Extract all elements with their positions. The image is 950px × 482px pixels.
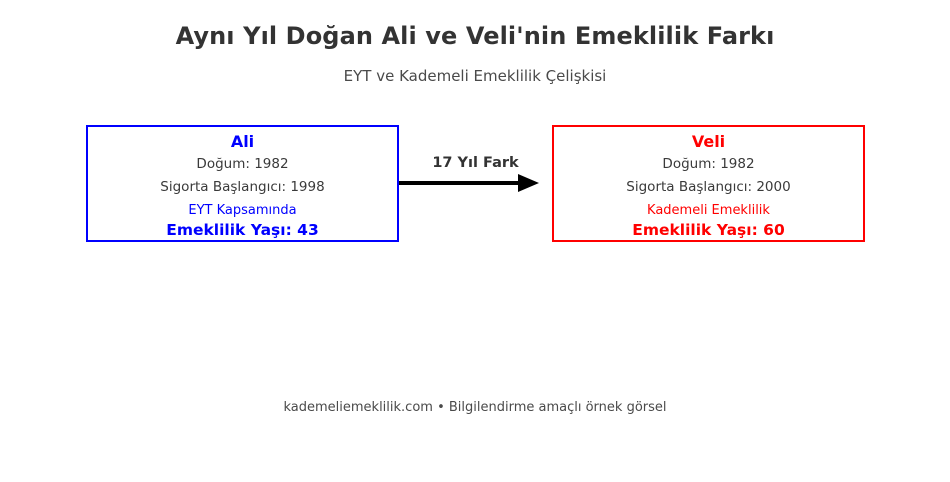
person-birth-year: Doğum: 1982 <box>662 153 754 176</box>
page-title: Aynı Yıl Doğan Ali ve Veli'nin Emeklilik… <box>0 22 950 50</box>
footer-note: kademeliemeklilik.com • Bilgilendirme am… <box>0 400 950 415</box>
person-card-veli: Veli Doğum: 1982 Sigorta Başlangıcı: 200… <box>552 125 865 242</box>
person-insurance-start: Sigorta Başlangıcı: 1998 <box>160 176 324 199</box>
person-insurance-start: Sigorta Başlangıcı: 2000 <box>626 176 790 199</box>
person-name: Ali <box>231 131 254 153</box>
person-retirement-age: Emeklilik Yaşı: 43 <box>166 220 318 240</box>
person-birth-year: Doğum: 1982 <box>196 153 288 176</box>
difference-label: 17 Yıl Fark <box>399 155 552 171</box>
page-subtitle: EYT ve Kademeli Emeklilik Çelişkisi <box>0 67 950 85</box>
person-name: Veli <box>692 131 725 153</box>
person-scheme: EYT Kapsamında <box>188 201 296 220</box>
difference-arrow-icon <box>399 172 539 194</box>
person-card-ali: Ali Doğum: 1982 Sigorta Başlangıcı: 1998… <box>86 125 399 242</box>
person-retirement-age: Emeklilik Yaşı: 60 <box>632 220 784 240</box>
person-scheme: Kademeli Emeklilik <box>647 201 770 220</box>
